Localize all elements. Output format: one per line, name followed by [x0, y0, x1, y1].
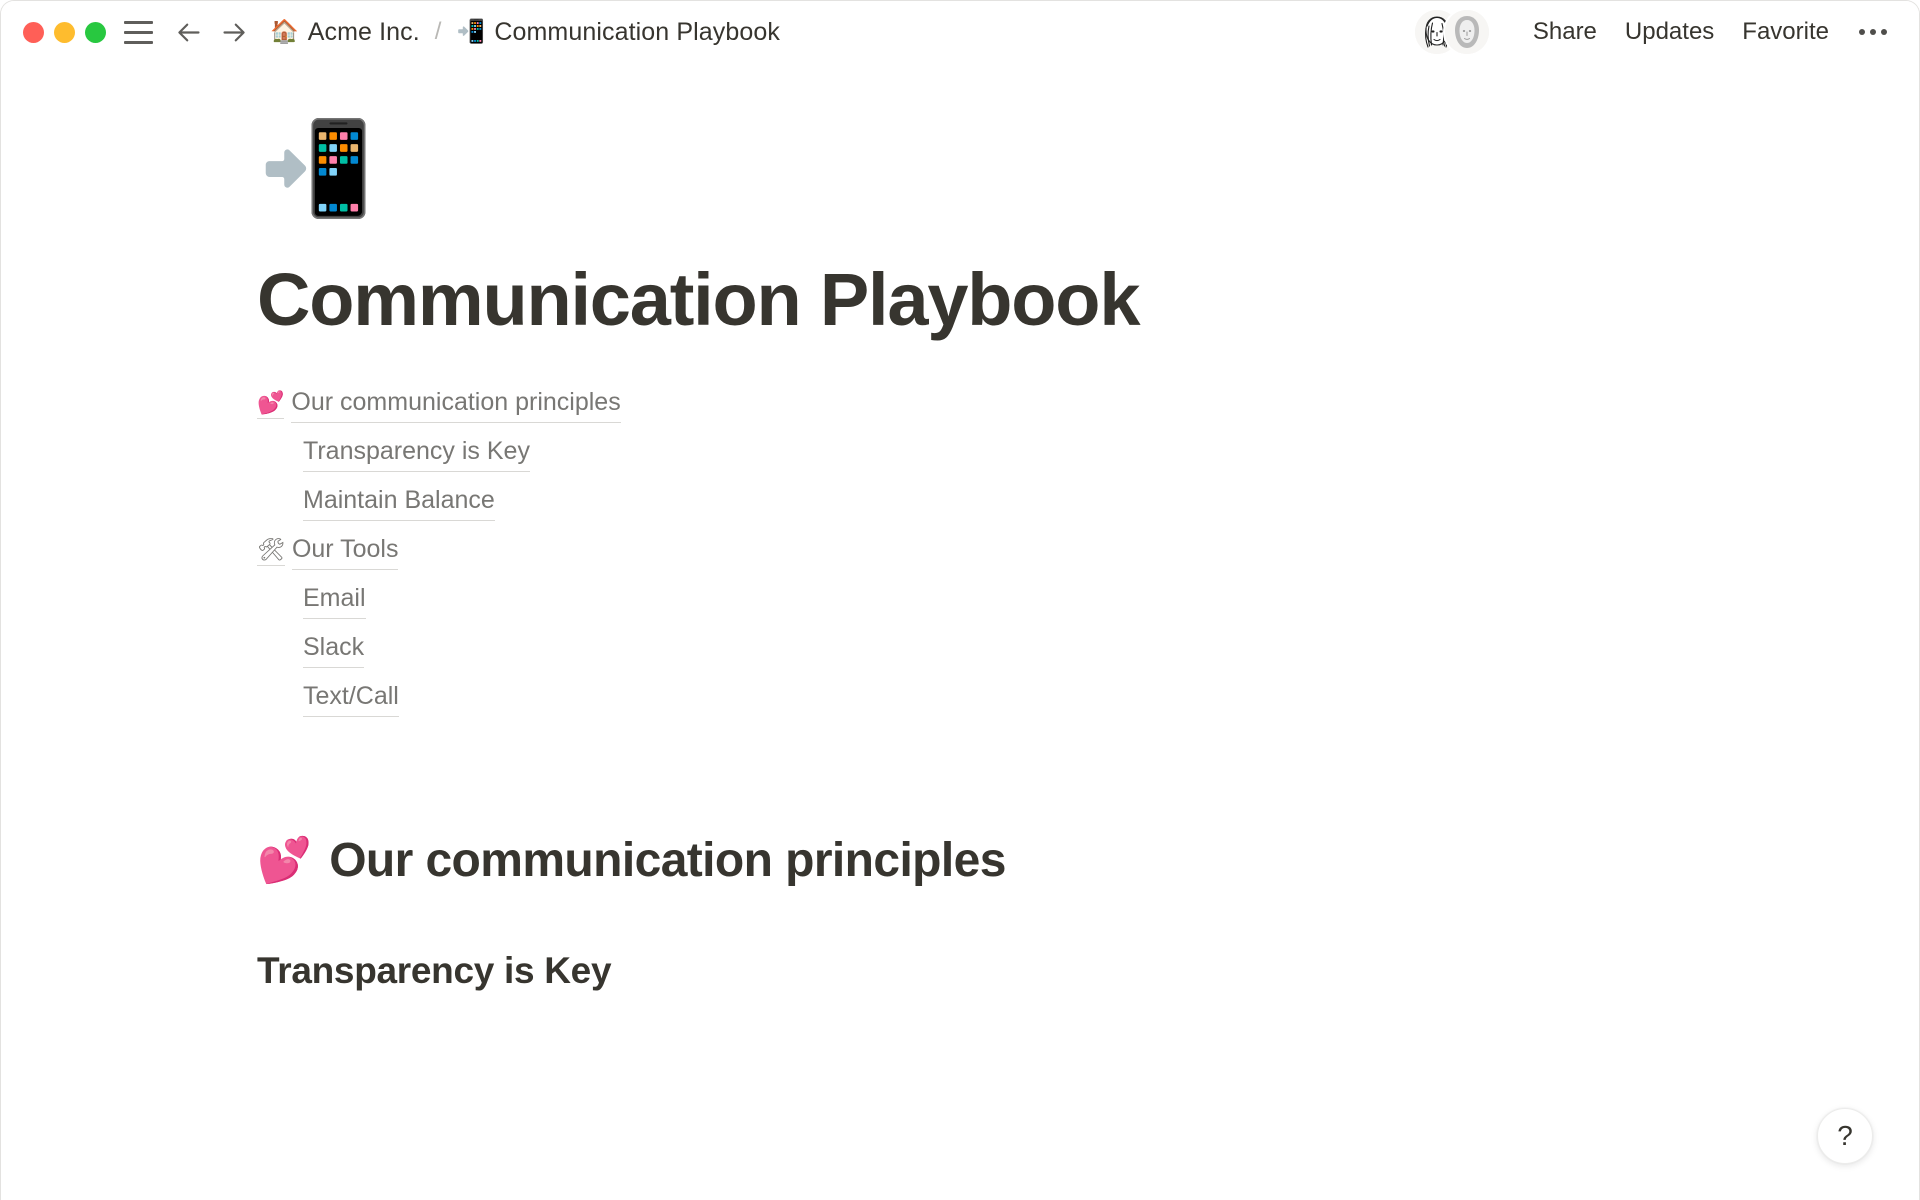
toc-link-text-call[interactable]: Text/Call	[257, 680, 399, 729]
toc-link-email[interactable]: Email	[257, 582, 366, 631]
maximize-window-button[interactable]	[85, 22, 106, 43]
favorite-button[interactable]: Favorite	[1728, 12, 1843, 52]
two-hearts-icon: 💕	[257, 839, 311, 883]
avatar-user-2[interactable]	[1445, 10, 1489, 54]
toc-label: Our communication principles	[291, 386, 620, 423]
hammer-and-wrench-icon: 🛠	[257, 538, 285, 566]
toc-label: Email	[303, 582, 366, 619]
two-hearts-icon: 💕	[257, 391, 284, 419]
breadcrumb: 🏠 Acme Inc. / 📲 Communication Playbook	[264, 15, 786, 50]
toc-link-slack[interactable]: Slack	[257, 631, 364, 680]
window-traffic-lights	[23, 22, 106, 43]
toc-label: Our Tools	[292, 533, 399, 570]
close-window-button[interactable]	[23, 22, 44, 43]
sub-heading-transparency-is-key[interactable]: Transparency is Key	[257, 950, 1859, 992]
avatar-group[interactable]	[1415, 10, 1489, 54]
share-button[interactable]: Share	[1519, 12, 1611, 52]
mobile-phone-arrow-icon: 📲	[457, 21, 486, 44]
help-button[interactable]: ?	[1817, 1108, 1873, 1164]
toc-link-our-communication-principles[interactable]: 💕 Our communication principles	[257, 386, 621, 435]
toc-label: Maintain Balance	[303, 484, 495, 521]
more-options-icon[interactable]	[1851, 13, 1895, 51]
toc-label: Slack	[303, 631, 364, 668]
arrow-right-icon[interactable]	[216, 15, 250, 49]
page-title[interactable]: Communication Playbook	[257, 259, 1859, 340]
minimize-window-button[interactable]	[54, 22, 75, 43]
top-bar: 🏠 Acme Inc. / 📲 Communication Playbook	[1, 1, 1919, 63]
house-icon: 🏠	[270, 21, 299, 44]
app-window: 🏠 Acme Inc. / 📲 Communication Playbook	[0, 0, 1920, 1200]
toc-link-transparency-is-key[interactable]: Transparency is Key	[257, 435, 530, 484]
hamburger-menu-icon[interactable]	[124, 17, 158, 47]
section-heading-label: Our communication principles	[329, 833, 1006, 888]
toc-link-maintain-balance[interactable]: Maintain Balance	[257, 484, 495, 533]
breadcrumb-separator: /	[435, 18, 442, 46]
navigation-arrows	[172, 15, 250, 49]
updates-button[interactable]: Updates	[1611, 12, 1728, 52]
toc-label: Text/Call	[303, 680, 399, 717]
breadcrumb-item-workspace[interactable]: 🏠 Acme Inc.	[264, 15, 426, 50]
toc-link-our-tools[interactable]: 🛠 Our Tools	[257, 533, 398, 582]
toc-label: Transparency is Key	[303, 435, 530, 472]
breadcrumb-item-page[interactable]: 📲 Communication Playbook	[451, 15, 786, 50]
breadcrumb-page-label: Communication Playbook	[494, 18, 780, 47]
section-heading-our-communication-principles[interactable]: 💕 Our communication principles	[257, 833, 1859, 888]
arrow-left-icon[interactable]	[172, 15, 206, 49]
breadcrumb-workspace-label: Acme Inc.	[308, 18, 420, 47]
page-content: 📲 Communication Playbook 💕 Our communica…	[1, 103, 1919, 992]
page-icon[interactable]: 📲	[259, 103, 1859, 235]
table-of-contents: 💕 Our communication principles Transpare…	[257, 386, 1859, 729]
top-bar-actions: Share Updates Favorite	[1415, 10, 1895, 54]
